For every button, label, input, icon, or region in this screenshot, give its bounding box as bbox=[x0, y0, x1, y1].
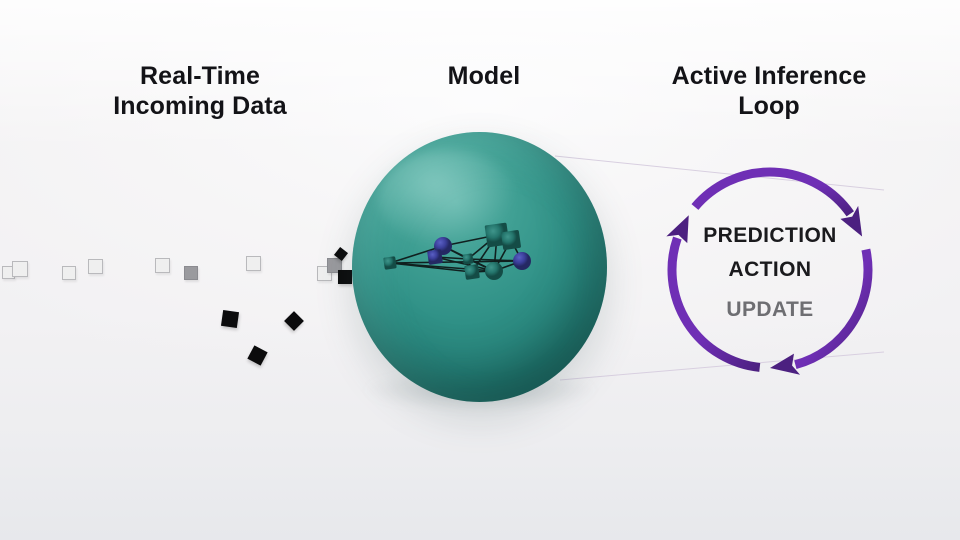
action-arc bbox=[695, 172, 850, 214]
network-node bbox=[464, 264, 480, 280]
loop-step-prediction: PREDICTION bbox=[650, 224, 890, 248]
network-node bbox=[501, 230, 521, 250]
heading-active-inference-loop: Active Inference Loop bbox=[630, 62, 908, 121]
data-square bbox=[88, 259, 103, 274]
model-sphere bbox=[352, 132, 612, 404]
data-square bbox=[247, 345, 267, 365]
data-square bbox=[338, 270, 352, 284]
loop-step-update: UPDATE bbox=[650, 298, 890, 322]
data-square bbox=[246, 256, 261, 271]
inference-loop-graphic: PREDICTION ACTION UPDATE bbox=[650, 150, 890, 390]
data-square bbox=[184, 266, 198, 280]
diagram-canvas: Real-Time Incoming Data Model Active Inf… bbox=[0, 0, 960, 540]
network-edge bbox=[390, 261, 522, 263]
data-square bbox=[284, 311, 304, 331]
data-square bbox=[155, 258, 170, 273]
heading-incoming-data: Real-Time Incoming Data bbox=[78, 62, 322, 121]
heading-model: Model bbox=[406, 62, 562, 92]
data-square bbox=[221, 310, 239, 328]
internal-network-graph bbox=[352, 132, 612, 404]
network-node bbox=[485, 262, 503, 280]
network-node bbox=[427, 249, 443, 265]
network-node bbox=[513, 252, 531, 270]
network-node bbox=[383, 256, 397, 270]
data-square bbox=[12, 261, 28, 277]
data-square bbox=[62, 266, 76, 280]
loop-step-action: ACTION bbox=[650, 258, 890, 282]
network-node bbox=[462, 253, 473, 264]
